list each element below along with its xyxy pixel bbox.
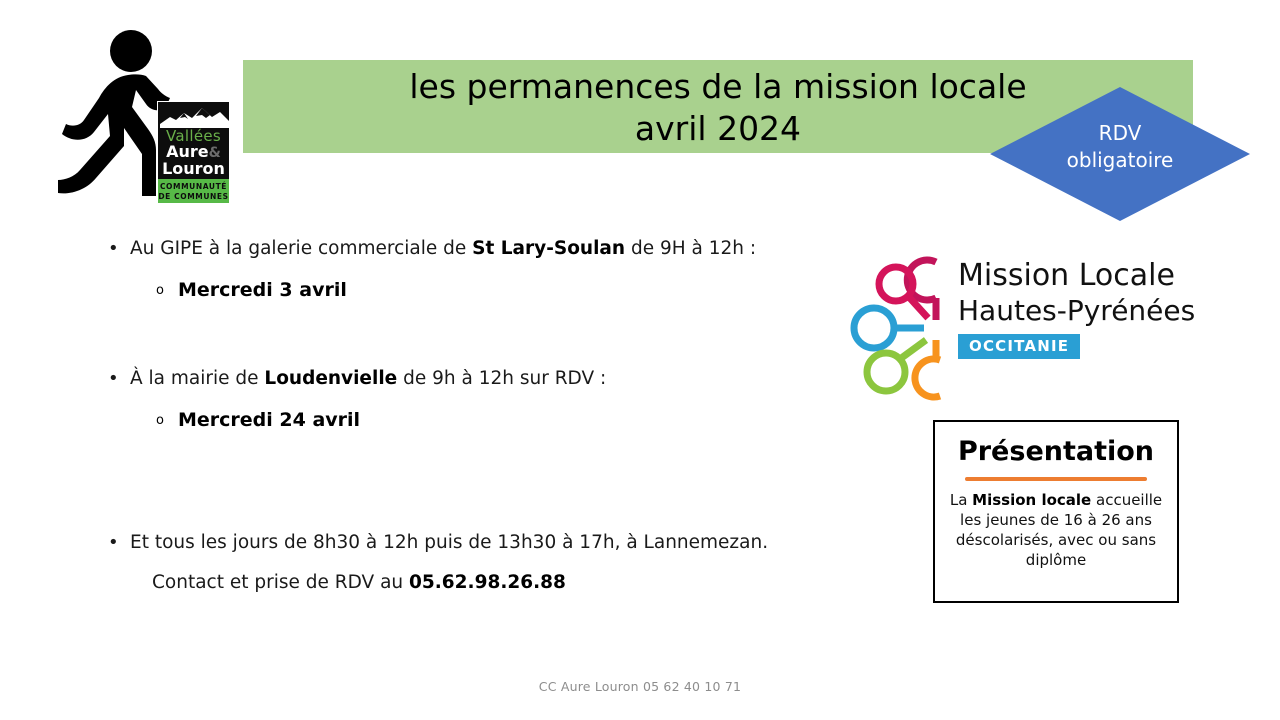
slide-canvas: Vallées Aure& Louron COMMUNAUTÉ DE COMMU… — [0, 0, 1280, 720]
presentation-divider — [965, 477, 1147, 481]
rdv-obligatoire-badge: RDV obligatoire — [990, 87, 1250, 221]
footer-text: CC Aure Louron 05 62 40 10 71 — [0, 679, 1280, 694]
cc-logo-band: COMMUNAUTÉ DE COMMUNES — [158, 179, 229, 203]
mission-locale-mark-icon — [848, 248, 954, 406]
spacer — [104, 262, 864, 276]
bullet1-text-before: Au GIPE à la galerie commerciale de — [130, 238, 472, 259]
contact-line: Contact et prise de RDV au 05.62.98.26.8… — [104, 570, 864, 596]
mission-locale-line2: Hautes-Pyrénées — [958, 294, 1184, 328]
sub-bullet-marker-icon: o — [156, 276, 164, 305]
bullet1-location: St Lary-Soulan — [472, 238, 625, 259]
contact-phone: 05.62.98.26.88 — [409, 572, 566, 593]
rdv-badge-line2: obligatoire — [990, 147, 1250, 174]
cc-logo-line-louron: Louron — [158, 160, 229, 178]
bullet2-location: Loudenvielle — [264, 368, 397, 389]
spacer — [104, 556, 864, 570]
spacer — [104, 482, 864, 530]
contact-text-before: Contact et prise de RDV au — [152, 572, 409, 593]
sub1-date: Mercredi 3 avril — [178, 279, 347, 301]
list-item: • À la mairie de Loudenvielle de 9h à 12… — [104, 366, 864, 392]
bullet-marker-icon: • — [108, 530, 119, 556]
mission-locale-line1: Mission Locale — [958, 258, 1184, 294]
cc-logo-band-line2: DE COMMUNES — [158, 192, 229, 202]
bullet2-text-before: À la mairie de — [130, 368, 264, 389]
sub2-date: Mercredi 24 avril — [178, 409, 360, 431]
communaute-de-communes-logo: Vallées Aure& Louron COMMUNAUTÉ DE COMMU… — [157, 101, 230, 204]
list-item: o Mercredi 24 avril — [104, 406, 864, 434]
spacer — [104, 304, 864, 366]
bullet2-text-after: de 9h à 12h sur RDV : — [397, 368, 606, 389]
presentation-box: Présentation La Mission locale accueille… — [933, 420, 1179, 603]
rdv-badge-label: RDV obligatoire — [990, 120, 1250, 174]
bullet-marker-icon: • — [108, 366, 119, 392]
presentation-body: La Mission locale accueille les jeunes d… — [947, 490, 1165, 570]
list-item: o Mercredi 3 avril — [104, 276, 864, 304]
presentation-title: Présentation — [935, 436, 1177, 468]
bullet-marker-icon: • — [108, 236, 119, 262]
occitanie-badge: OCCITANIE — [958, 334, 1080, 359]
bullet1-text-after: de 9H à 12h : — [625, 238, 756, 259]
rdv-badge-line1: RDV — [990, 120, 1250, 147]
spacer — [104, 392, 864, 406]
presentation-body-bold: Mission locale — [972, 491, 1091, 509]
mission-locale-wordmark: Mission Locale Hautes-Pyrénées OCCITANIE — [958, 258, 1184, 359]
bullet3-text: Et tous les jours de 8h30 à 12h puis de … — [130, 532, 768, 553]
list-item: • Au GIPE à la galerie commerciale de St… — [104, 236, 864, 262]
presentation-body-before: La — [950, 491, 972, 509]
content-list: • Au GIPE à la galerie commerciale de St… — [104, 236, 864, 596]
sub-bullet-marker-icon: o — [156, 406, 164, 435]
cc-logo-band-line1: COMMUNAUTÉ — [158, 182, 229, 192]
mission-locale-logo: Mission Locale Hautes-Pyrénées OCCITANIE — [848, 248, 1184, 408]
list-item: • Et tous les jours de 8h30 à 12h puis d… — [104, 530, 864, 556]
spacer — [104, 434, 864, 482]
